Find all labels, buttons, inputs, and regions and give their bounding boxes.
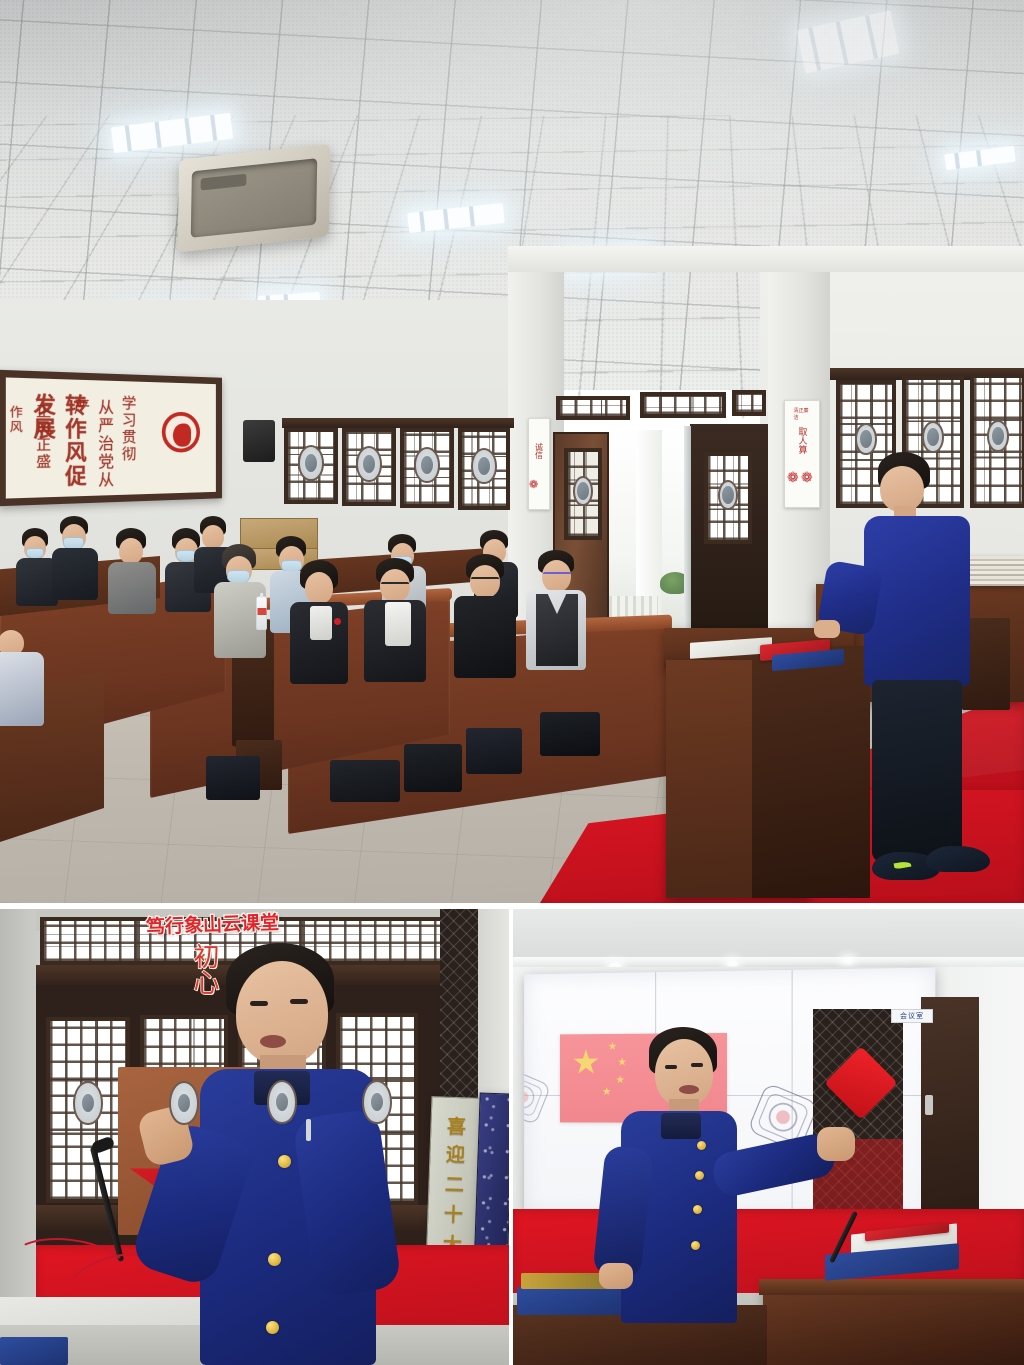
legs-group-2 xyxy=(404,744,462,792)
framed-calligraphy: 学习贯彻 从严治党从严 转作风促发展 正风正盛 作风 xyxy=(0,370,222,507)
br-speaker-hand-left xyxy=(599,1263,633,1289)
banner-subtitle: 初心 xyxy=(186,943,223,995)
panel-divider-vertical xyxy=(509,903,513,1365)
head xyxy=(119,538,143,564)
jacket-button-4 xyxy=(266,1321,279,1334)
lattice-medallion-icon xyxy=(471,448,497,484)
shoe-swoosh-icon xyxy=(894,861,912,870)
br-jacket-button-4 xyxy=(691,1241,700,1250)
lattice-medallion-icon xyxy=(298,445,324,481)
photo-collage: 学习贯彻 从严治党从严 转作风促发展 正风正盛 作风 诚信 ❁ xyxy=(0,0,1024,1365)
bl-speaker-head xyxy=(236,961,328,1065)
lecture-hall-scene: 学习贯彻 从严治党从严 转作风促发展 正风正盛 作风 诚信 ❁ xyxy=(0,0,1024,903)
board-char-4: 十 xyxy=(443,1200,463,1228)
br-jacket-button-3 xyxy=(693,1205,702,1214)
lattice-window-back-3 xyxy=(400,428,454,508)
br-door-handle-icon xyxy=(925,1095,933,1115)
lattice-window-back-1 xyxy=(284,428,338,504)
poster-text: 诚信 xyxy=(534,443,545,459)
lattice-medallion-icon xyxy=(169,1081,199,1125)
lattice-medallion-icon xyxy=(414,447,440,483)
shirt-collar xyxy=(310,606,332,640)
lattice-medallion-icon xyxy=(73,1081,103,1125)
torso xyxy=(108,562,156,614)
wall-beam-top xyxy=(508,246,1024,272)
br-downlight-3 xyxy=(843,958,853,964)
head xyxy=(305,572,333,604)
lattice-medallion-icon xyxy=(987,420,1009,452)
br-jacket-button-2 xyxy=(695,1171,704,1180)
lattice-medallion-icon xyxy=(922,421,944,453)
calligraphy-line-4: 正风正盛 xyxy=(32,403,53,470)
wall-poster-right: 清正廉洁 取人算 xyxy=(784,400,820,508)
door-transom-right xyxy=(640,392,726,418)
jacket-button-2 xyxy=(278,1155,291,1168)
lattice-medallion-icon xyxy=(356,446,382,482)
papercut-demo-scene: 笃行象山云课堂 初心 喜 迎 二 十 大 xyxy=(0,909,509,1365)
lattice-medallion-icon xyxy=(855,423,877,455)
board-char-1: 喜 xyxy=(447,1112,467,1140)
speaker-shoe-right xyxy=(926,846,990,872)
br-blue-box-left xyxy=(517,1287,625,1315)
lattice-window-right-3 xyxy=(970,374,1024,508)
glasses-icon xyxy=(381,582,409,587)
papercut-left: ❁ xyxy=(529,478,539,491)
shirt-front xyxy=(385,602,411,646)
calligraphy-seal-icon xyxy=(162,412,200,453)
door-transom-far xyxy=(732,390,766,416)
jacket-button-3 xyxy=(268,1253,281,1266)
calligraphy-line-5: 作风 xyxy=(7,405,26,435)
flag-star-1: ★ xyxy=(608,1042,618,1053)
window-band-header xyxy=(282,418,514,428)
cloud-classroom-banner: 笃行象山云课堂 xyxy=(146,909,280,939)
flag-star-4: ★ xyxy=(602,1087,611,1098)
lectern-front-panel xyxy=(752,646,870,898)
party-badge xyxy=(334,618,341,625)
legs-group-5 xyxy=(206,756,260,800)
br-speaker-collar xyxy=(661,1113,701,1139)
speaker-hand xyxy=(814,620,840,638)
speaker-trousers xyxy=(872,680,962,862)
lattice-medallion-icon xyxy=(362,1080,392,1124)
br-speaker-eye-right xyxy=(691,1063,703,1067)
legs-group-3 xyxy=(466,728,522,774)
bl-speaker-eye-left xyxy=(250,1001,268,1006)
flag-star-2: ★ xyxy=(617,1058,627,1069)
glasses-icon xyxy=(471,577,499,582)
br-speaker-hand-right xyxy=(817,1127,855,1161)
door-transom-left xyxy=(556,396,630,420)
head xyxy=(202,525,224,549)
legs-group-4 xyxy=(540,712,600,756)
poster-body: 取人算 xyxy=(796,427,809,454)
br-speaker-eye-left xyxy=(665,1065,677,1069)
board-char-3: 二 xyxy=(444,1170,464,1198)
door-lattice-pane xyxy=(564,448,602,540)
panel-speaker-at-lectern: ★ ★ ★ ★ ★ 会议室 xyxy=(513,909,1024,1365)
water-bottle-1 xyxy=(256,596,267,630)
board-char-2: 迎 xyxy=(446,1140,466,1168)
door-leaf-closed[interactable] xyxy=(690,424,768,646)
speaker-jacket xyxy=(864,516,970,686)
bl-equipment-case xyxy=(0,1337,68,1365)
door-closed-lattice-pane xyxy=(704,452,752,544)
br-speaker-mouth xyxy=(679,1085,699,1094)
br-podium xyxy=(763,1287,1024,1365)
papercut-right-1: ❁ xyxy=(787,470,800,486)
calligraphy-line-1: 学习贯彻 xyxy=(119,395,139,463)
poster-title: 清正廉洁 xyxy=(794,407,811,421)
lattice-medallion-icon xyxy=(267,1080,297,1124)
panel-lecture-hall-wide: 学习贯彻 从严治党从严 转作风促发展 正风正盛 作风 诚信 ❁ xyxy=(0,0,1024,903)
wall-poster-left: 诚信 xyxy=(528,418,550,510)
lattice-window-back-4 xyxy=(458,428,510,510)
br-jacket-button-1 xyxy=(697,1141,706,1150)
jacket-pen-icon xyxy=(306,1119,311,1141)
door-metal-jamb xyxy=(684,426,691,646)
face-mask xyxy=(176,550,196,562)
videowall-scene: ★ ★ ★ ★ ★ 会议室 xyxy=(513,909,1024,1365)
legs-group-1 xyxy=(330,760,400,802)
torso xyxy=(0,652,44,726)
br-podium-top xyxy=(759,1279,1024,1295)
bl-speaker-eye-right xyxy=(290,999,308,1004)
wall-speaker xyxy=(243,420,275,462)
torso xyxy=(454,596,516,678)
torso xyxy=(52,548,98,600)
door-medallion-icon xyxy=(573,476,593,506)
panel-speaker-with-papercut-star: 笃行象山云课堂 初心 喜 迎 二 十 大 xyxy=(0,909,509,1365)
flag-star-3: ★ xyxy=(615,1075,625,1086)
bl-speaker-mouth xyxy=(260,1035,286,1048)
flag-star-big: ★ xyxy=(571,1046,600,1079)
lattice-window-back-2 xyxy=(342,428,396,506)
door-medallion-icon xyxy=(718,480,738,510)
glasses-icon xyxy=(543,572,571,577)
br-speaker-head xyxy=(655,1039,713,1107)
room-name-sign: 会议室 xyxy=(891,1009,933,1023)
papercut-right-2: ❁ xyxy=(801,470,814,486)
cassette-air-conditioner xyxy=(178,144,331,253)
